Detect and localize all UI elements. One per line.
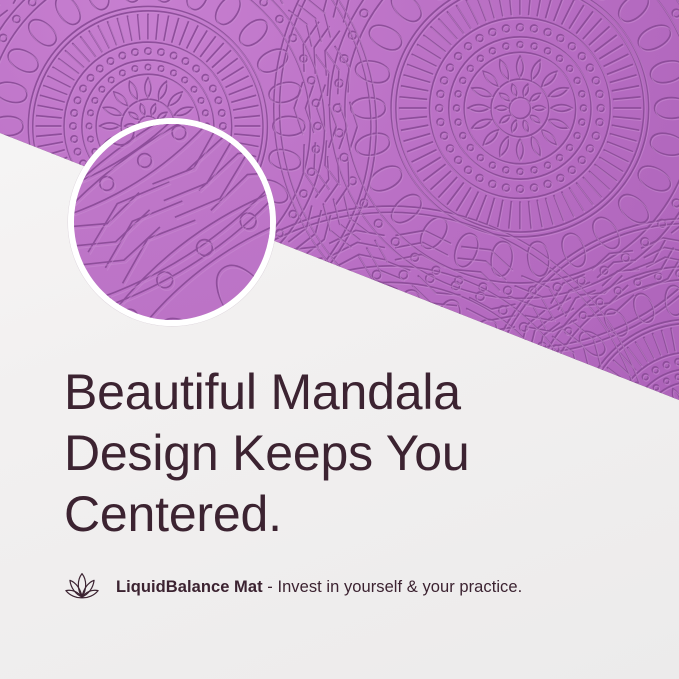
magnified-mat-content (68, 118, 276, 326)
tagline-text: LiquidBalance Mat - Invest in yourself &… (116, 578, 522, 597)
lotus-icon (62, 570, 102, 604)
product-marketing-banner: Beautiful Mandala Design Keeps You Cente… (0, 0, 679, 679)
page-title: Beautiful Mandala Design Keeps You Cente… (64, 362, 624, 545)
brand-name: LiquidBalance Mat (116, 578, 263, 596)
tagline-rest: - Invest in yourself & your practice. (263, 578, 523, 596)
tagline: LiquidBalance Mat - Invest in yourself &… (62, 570, 522, 604)
magnified-mandala-pattern (68, 118, 276, 326)
detail-magnifier (68, 118, 276, 326)
